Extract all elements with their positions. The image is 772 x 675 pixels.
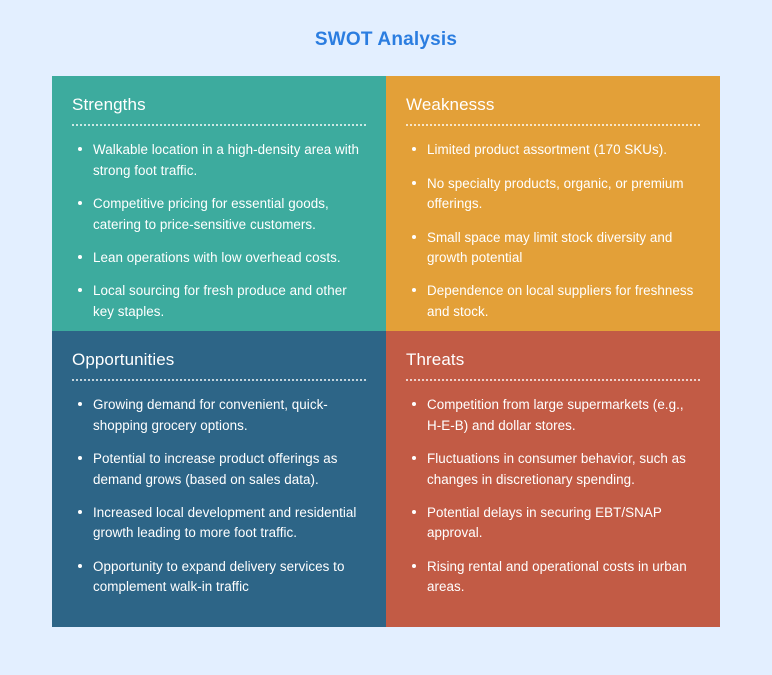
bullet-list-threats: Competition from large supermarkets (e.g… (406, 395, 700, 597)
bullet-icon (78, 147, 82, 151)
bullet-icon (412, 564, 416, 568)
list-item-text: Potential to increase product offerings … (93, 451, 338, 486)
bullet-list-strengths: Walkable location in a high-density area… (72, 140, 366, 322)
bullet-icon (78, 402, 82, 406)
heading-divider-opportunities (72, 379, 366, 381)
list-item: Small space may limit stock diversity an… (406, 228, 700, 269)
quadrant-threats: Threats Competition from large supermark… (386, 331, 720, 627)
bullet-icon (412, 288, 416, 292)
list-item: Dependence on local suppliers for freshn… (406, 281, 700, 322)
quadrant-heading-weaknesses: Weaknesss (406, 95, 700, 115)
list-item: Competitive pricing for essential goods,… (72, 194, 366, 235)
bullet-icon (412, 235, 416, 239)
list-item: Increased local development and resident… (72, 503, 366, 544)
list-item-text: Increased local development and resident… (93, 505, 356, 540)
bullet-icon (78, 288, 82, 292)
list-item-text: Limited product assortment (170 SKUs). (427, 142, 667, 157)
list-item: Walkable location in a high-density area… (72, 140, 366, 181)
bullet-list-weaknesses: Limited product assortment (170 SKUs). N… (406, 140, 700, 322)
page-title: SWOT Analysis (0, 29, 772, 51)
list-item-text: Competitive pricing for essential goods,… (93, 196, 329, 231)
list-item: Fluctuations in consumer behavior, such … (406, 449, 700, 490)
bullet-icon (412, 510, 416, 514)
quadrant-opportunities: Opportunities Growing demand for conveni… (52, 331, 386, 627)
quadrant-weaknesses: Weaknesss Limited product assortment (17… (386, 76, 720, 331)
quadrant-heading-strengths: Strengths (72, 95, 366, 115)
list-item: Opportunity to expand delivery services … (72, 557, 366, 598)
bullet-icon (78, 201, 82, 205)
list-item-text: Walkable location in a high-density area… (93, 142, 359, 177)
bullet-icon (412, 181, 416, 185)
list-item: Potential delays in securing EBT/SNAP ap… (406, 503, 700, 544)
bullet-list-opportunities: Growing demand for convenient, quick-sho… (72, 395, 366, 597)
list-item-text: Growing demand for convenient, quick-sho… (93, 397, 328, 432)
list-item: Competition from large supermarkets (e.g… (406, 395, 700, 436)
list-item-text: Dependence on local suppliers for freshn… (427, 283, 693, 318)
quadrant-heading-threats: Threats (406, 350, 700, 370)
list-item: Potential to increase product offerings … (72, 449, 366, 490)
quadrant-strengths: Strengths Walkable location in a high-de… (52, 76, 386, 331)
list-item: Rising rental and operational costs in u… (406, 557, 700, 598)
list-item-text: Small space may limit stock diversity an… (427, 230, 672, 265)
bullet-icon (78, 510, 82, 514)
list-item-text: Potential delays in securing EBT/SNAP ap… (427, 505, 662, 540)
heading-divider-weaknesses (406, 124, 700, 126)
heading-divider-strengths (72, 124, 366, 126)
list-item-text: Local sourcing for fresh produce and oth… (93, 283, 347, 318)
list-item: Limited product assortment (170 SKUs). (406, 140, 700, 160)
swot-analysis-page: SWOT Analysis Strengths Walkable locatio… (0, 0, 772, 675)
bullet-icon (412, 456, 416, 460)
list-item-text: Fluctuations in consumer behavior, such … (427, 451, 686, 486)
heading-divider-threats (406, 379, 700, 381)
list-item-text: Opportunity to expand delivery services … (93, 559, 344, 594)
list-item-text: Lean operations with low overhead costs. (93, 250, 341, 265)
list-item: No specialty products, organic, or premi… (406, 174, 700, 215)
bullet-icon (78, 564, 82, 568)
list-item-text: Rising rental and operational costs in u… (427, 559, 687, 594)
bullet-icon (78, 456, 82, 460)
bullet-icon (412, 402, 416, 406)
list-item-text: Competition from large supermarkets (e.g… (427, 397, 684, 432)
list-item: Lean operations with low overhead costs. (72, 248, 366, 268)
quadrant-heading-opportunities: Opportunities (72, 350, 366, 370)
bullet-icon (412, 147, 416, 151)
swot-grid: Strengths Walkable location in a high-de… (52, 76, 720, 627)
list-item-text: No specialty products, organic, or premi… (427, 176, 684, 211)
list-item: Growing demand for convenient, quick-sho… (72, 395, 366, 436)
list-item: Local sourcing for fresh produce and oth… (72, 281, 366, 322)
bullet-icon (78, 255, 82, 259)
